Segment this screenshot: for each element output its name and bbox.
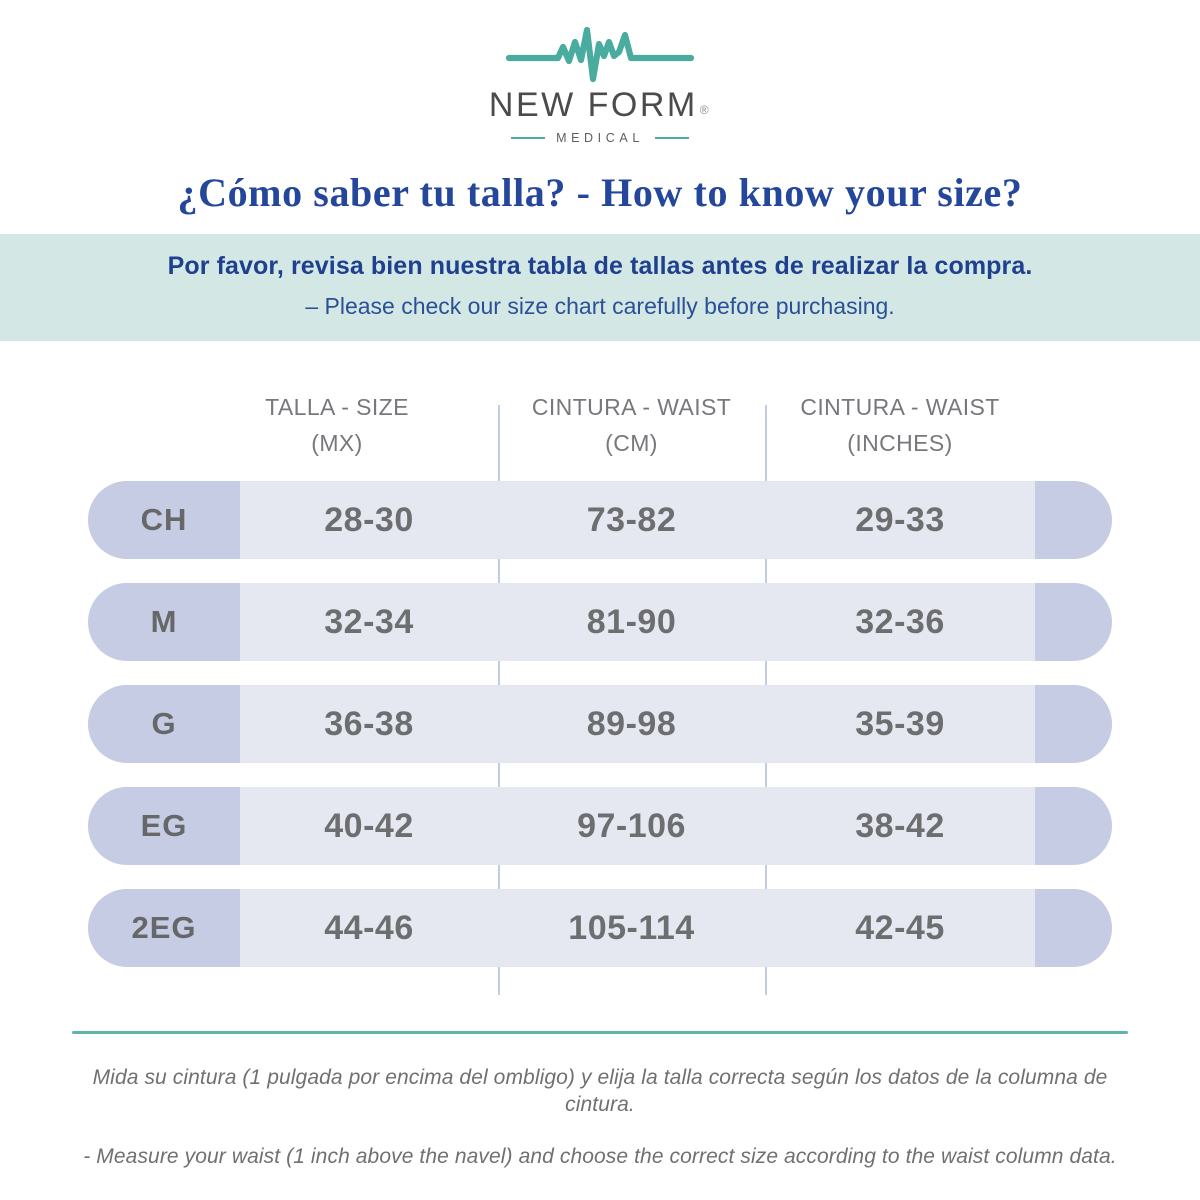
brand-wordmark-text: NEW FORM: [489, 88, 698, 122]
cell-size-label: CH: [88, 481, 240, 559]
table-row: 2EG 44-46 105-114 42-45: [88, 889, 1112, 967]
cell-size-mx: 28-30: [240, 481, 498, 559]
footer: Mida su cintura (1 pulgada por encima de…: [0, 1031, 1200, 1170]
cell-size-label: M: [88, 583, 240, 661]
column-header-size-line2: (MX): [176, 426, 498, 462]
cell-size-mx: 44-46: [240, 889, 498, 967]
brand-wordmark: NEW FORM ®: [489, 88, 711, 122]
brand-tagline: MEDICAL: [556, 131, 644, 145]
table-header-row: TALLA - SIZE (MX) CINTURA - WAIST (CM) C…: [0, 371, 1200, 481]
column-header-waist-inches-line2: (INCHES): [765, 426, 1035, 462]
table-row: EG 40-42 97-106 38-42: [88, 787, 1112, 865]
table-row: M 32-34 81-90 32-36: [88, 583, 1112, 661]
cell-waist-inches: 29-33: [765, 481, 1035, 559]
cell-waist-cm: 89-98: [498, 685, 765, 763]
column-header-waist-inches-line1: CINTURA - WAIST: [765, 390, 1035, 426]
table-row: G 36-38 89-98 35-39: [88, 685, 1112, 763]
size-chart-table: TALLA - SIZE (MX) CINTURA - WAIST (CM) C…: [0, 371, 1200, 996]
row-endcap: [1035, 685, 1112, 763]
notice-banner: Por favor, revisa bien nuestra tabla de …: [0, 234, 1200, 341]
cell-waist-inches: 42-45: [765, 889, 1035, 967]
row-endcap: [1035, 889, 1112, 967]
tagline-dash-right-icon: [655, 137, 689, 139]
cell-waist-cm: 81-90: [498, 583, 765, 661]
ekg-heartbeat-icon: [505, 22, 695, 84]
cell-waist-cm: 73-82: [498, 481, 765, 559]
registered-trademark-icon: ®: [700, 104, 711, 116]
notice-text-spanish: Por favor, revisa bien nuestra tabla de …: [0, 251, 1200, 282]
footer-text-spanish: Mida su cintura (1 pulgada por encima de…: [72, 1064, 1128, 1119]
cell-waist-inches: 35-39: [765, 685, 1035, 763]
row-endcap: [1035, 583, 1112, 661]
row-endcap: [1035, 481, 1112, 559]
cell-waist-inches: 38-42: [765, 787, 1035, 865]
cell-size-mx: 32-34: [240, 583, 498, 661]
notice-text-english: – Please check our size chart carefully …: [0, 292, 1200, 321]
column-header-size-line1: TALLA - SIZE: [176, 390, 498, 426]
table-body: CH 28-30 73-82 29-33 M 32-34 81-90 32-36…: [0, 481, 1200, 967]
page-title: ¿Cómo saber tu talla? - How to know your…: [0, 169, 1200, 216]
column-header-size: TALLA - SIZE (MX): [176, 390, 498, 461]
column-header-waist-cm-line2: (CM): [498, 426, 765, 462]
footer-text-english: - Measure your waist (1 inch above the n…: [72, 1143, 1128, 1170]
cell-size-label: 2EG: [88, 889, 240, 967]
row-endcap: [1035, 787, 1112, 865]
tagline-dash-left-icon: [511, 137, 545, 139]
cell-size-label: EG: [88, 787, 240, 865]
column-header-waist-cm: CINTURA - WAIST (CM): [498, 390, 765, 461]
cell-size-label: G: [88, 685, 240, 763]
brand-logo: NEW FORM ® MEDICAL: [0, 0, 1200, 145]
cell-waist-inches: 32-36: [765, 583, 1035, 661]
column-header-waist-inches: CINTURA - WAIST (INCHES): [765, 390, 1035, 461]
cell-waist-cm: 105-114: [498, 889, 765, 967]
table-row: CH 28-30 73-82 29-33: [88, 481, 1112, 559]
cell-size-mx: 36-38: [240, 685, 498, 763]
brand-tagline-row: MEDICAL: [511, 131, 689, 145]
cell-size-mx: 40-42: [240, 787, 498, 865]
footer-divider: [72, 1031, 1128, 1034]
cell-waist-cm: 97-106: [498, 787, 765, 865]
column-header-waist-cm-line1: CINTURA - WAIST: [498, 390, 765, 426]
